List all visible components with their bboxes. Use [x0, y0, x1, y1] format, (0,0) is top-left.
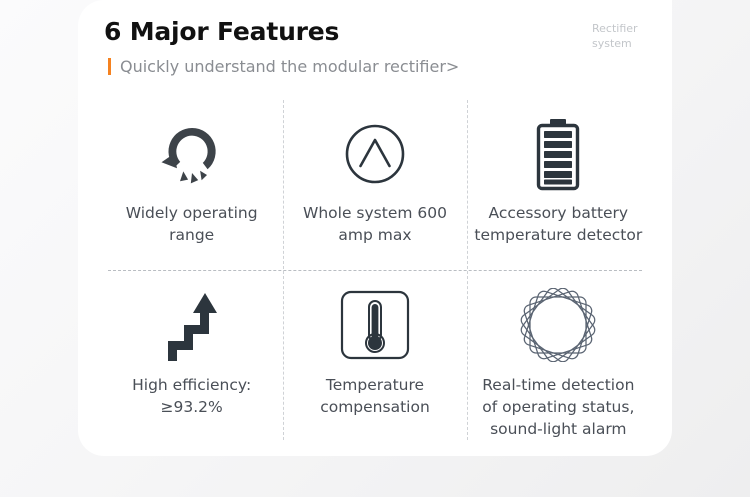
feature-label: Widely operating range: [106, 202, 277, 246]
page-root: 6 Major Features Quickly understand the …: [0, 0, 750, 497]
features-grid: Widely operating range Whole system 600 …: [100, 100, 650, 440]
feature-item-whole-system-amp-max[interactable]: Whole system 600 amp max: [283, 100, 466, 266]
feature-card: 6 Major Features Quickly understand the …: [78, 0, 672, 456]
accent-bar: [108, 58, 111, 75]
page-subtitle: Quickly understand the modular rectifier…: [120, 57, 459, 76]
feature-label: High efficiency: ≥93.2%: [106, 374, 277, 418]
circle-chevron-icon: [342, 114, 408, 194]
subtitle-row: Quickly understand the modular rectifier…: [104, 57, 644, 76]
page-title: 6 Major Features: [104, 18, 644, 46]
feature-item-accessory-battery-temperature-detector[interactable]: Accessory battery temperature detector: [467, 100, 650, 266]
feature-item-high-efficiency[interactable]: High efficiency: ≥93.2%: [100, 266, 283, 440]
circular-arrow-icon: [155, 114, 229, 194]
feature-label: Real-time detection of operating status,…: [473, 374, 644, 440]
feature-label: Accessory battery temperature detector: [473, 202, 644, 246]
feature-label: Whole system 600 amp max: [289, 202, 460, 246]
feature-item-temperature-compensation[interactable]: Temperature compensation: [283, 266, 466, 440]
feature-label: Temperature compensation: [289, 374, 460, 418]
corner-label: Rectifier system: [592, 22, 654, 52]
battery-full-icon: [531, 114, 585, 194]
card-header: 6 Major Features Quickly understand the …: [104, 18, 644, 76]
stair-arrow-up-icon: [163, 282, 221, 368]
feature-item-real-time-detection[interactable]: Real-time detection of operating status,…: [467, 266, 650, 440]
rotating-squares-icon: [520, 282, 596, 368]
thermometer-icon: [338, 282, 412, 368]
feature-item-widely-operating-range[interactable]: Widely operating range: [100, 100, 283, 266]
